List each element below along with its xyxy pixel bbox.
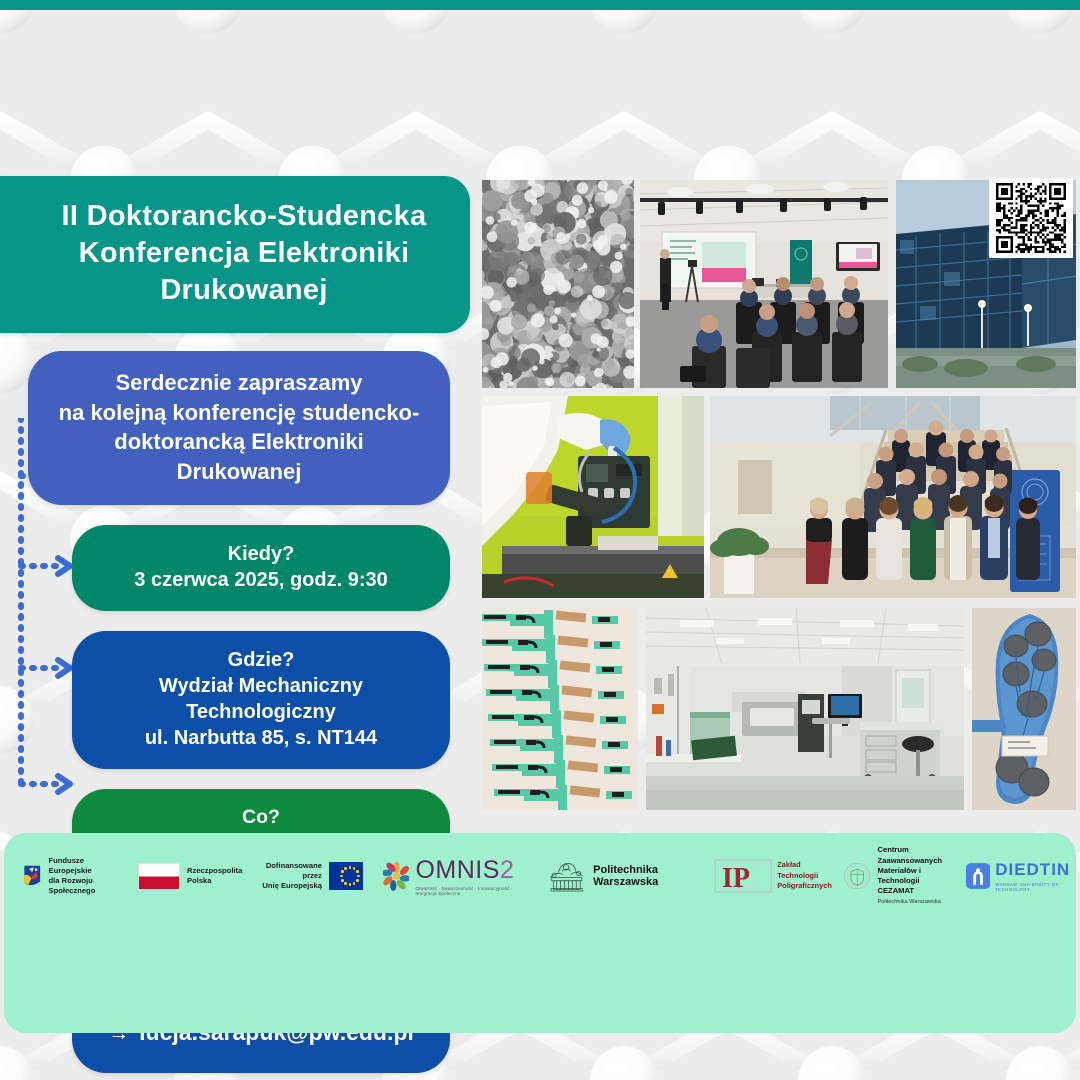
poland-flag-icon xyxy=(138,863,180,890)
logo-rzeczpospolita-polska: Rzeczpospolita Polska xyxy=(138,863,242,890)
footer-panel: Fundusze Europejskie dla Rozwoju Społecz… xyxy=(4,833,1076,1033)
invite-line-3: doktorancką Elektroniki Drukowanej xyxy=(50,427,428,486)
photo-lab-printer xyxy=(482,396,704,598)
omnis-two: 2 xyxy=(500,856,514,885)
ztp-label: Zakład Technologii Poligraficznych xyxy=(777,860,832,892)
logo-strip: Fundusze Europejskie dla Rozwoju Społecz… xyxy=(4,845,1076,907)
cezamat-crest-icon xyxy=(843,858,871,894)
invite-card: Serdecznie zapraszamy na kolejną konfere… xyxy=(28,351,450,505)
svg-text:IP: IP xyxy=(722,863,750,893)
diedtin-subtitle: WARSAW UNIVERSITY OF TECHNOLOGY xyxy=(995,882,1076,892)
photo-lecture-hall xyxy=(640,180,888,388)
logo-zaklad-technologii-poligraficznych: IP Zakład Technologii Poligraficznych xyxy=(714,859,832,893)
qr-code-glyph xyxy=(994,183,1068,253)
dofinansowane-ue-label: Dofinansowane przez Unię Europejską xyxy=(258,861,322,891)
what-label: Co? xyxy=(88,805,434,830)
fundusze-europejskie-label: Fundusze Europejskie dla Rozwoju Społecz… xyxy=(49,856,123,896)
where-value-2: ul. Narbutta 85, s. NT144 xyxy=(92,725,430,751)
diedtin-arch-icon xyxy=(966,860,990,892)
logo-diedtin: DIEDTIN WARSAW UNIVERSITY OF TECHNOLOGY xyxy=(966,860,1076,892)
where-card: Gdzie? Wydział Mechaniczny Technologiczn… xyxy=(72,631,450,769)
logo-dofinansowane-ue: Dofinansowane przez Unię Europejską xyxy=(258,861,363,891)
qr-code[interactable] xyxy=(989,178,1073,258)
photo-printed-circuits xyxy=(482,608,638,810)
fundusze-europejskie-icon xyxy=(22,861,43,891)
logo-omnis2: OMNIS 2 Otwartość · Nowoczesność · Innow… xyxy=(383,856,529,896)
logo-fundusze-europejskie: Fundusze Europejskie dla Rozwoju Społecz… xyxy=(22,856,122,896)
politechnika-warszawska-label: Politechnika Warszawska xyxy=(593,864,698,888)
where-label: Gdzie? xyxy=(92,647,430,673)
when-row: Kiedy? 3 czerwca 2025, godz. 9:30 xyxy=(72,525,450,611)
politechnika-crest-icon xyxy=(547,856,587,896)
cezamat-label: Centrum Zaawansowanych Materiałów i Tech… xyxy=(878,835,955,917)
invite-line-1: Serdecznie zapraszamy xyxy=(50,368,428,397)
invite-line-2: na kolejną konferencję studencko- xyxy=(50,398,428,427)
cezamat-subtitle: Politechnika Warszawska xyxy=(878,899,955,906)
poster-title: II Doktorancko-Studencka Konferencja Ele… xyxy=(0,176,470,333)
logo-cezamat: Centrum Zaawansowanych Materiałów i Tech… xyxy=(843,835,955,917)
omnis-flower-icon xyxy=(383,859,410,893)
rzeczpospolita-polska-label: Rzeczpospolita Polska xyxy=(187,866,242,886)
when-card: Kiedy? 3 czerwca 2025, godz. 9:30 xyxy=(72,525,450,611)
omnis-wordmark: OMNIS xyxy=(415,856,499,885)
cezamat-title: Centrum Zaawansowanych Materiałów i Tech… xyxy=(878,845,943,895)
when-value: 3 czerwca 2025, godz. 9:30 xyxy=(92,567,430,593)
photo-group-photo xyxy=(710,396,1076,598)
logo-politechnika-warszawska: Politechnika Warszawska xyxy=(547,856,699,896)
photo-sem-micrograph xyxy=(482,180,634,388)
where-row: Gdzie? Wydział Mechaniczny Technologiczn… xyxy=(72,631,450,769)
eu-flag-icon xyxy=(329,862,363,890)
top-accent-bar xyxy=(0,0,1080,10)
photo-sensor-insole xyxy=(972,608,1076,810)
omnis-subtitle: Otwartość · Nowoczesność · Innowacyjność… xyxy=(415,886,529,896)
when-label: Kiedy? xyxy=(92,541,430,567)
photo-cleanroom xyxy=(646,608,964,810)
diedtin-wordmark: DIEDTIN xyxy=(995,860,1076,880)
where-value-1: Wydział Mechaniczny Technologiczny xyxy=(92,673,430,725)
ztp-ip-icon: IP xyxy=(714,859,772,893)
